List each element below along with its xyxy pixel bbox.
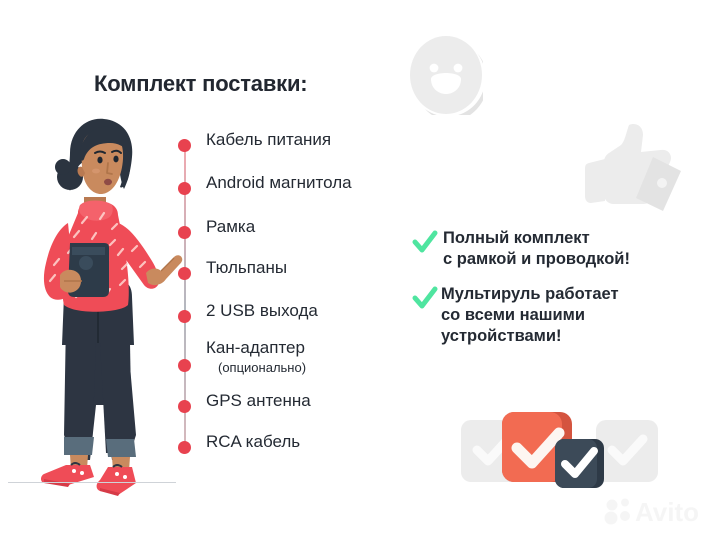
list-item-label: Тюльпаны: [206, 258, 287, 278]
list-item-label: Android магнитола: [206, 173, 352, 193]
woman-pointing-illustration: [8, 105, 188, 505]
timeline-dot: [178, 310, 191, 323]
ground-line: [8, 482, 176, 483]
benefit-text: Полный комплект с рамкой и проводкой!: [443, 228, 630, 270]
list-item-label: GPS антенна: [206, 391, 311, 411]
smiley-face-icon: [409, 35, 483, 115]
benefit-item: Полный комплект с рамкой и проводкой!: [412, 228, 692, 270]
benefit-item: Мультируль работает со всеми нашими устр…: [412, 284, 692, 347]
check-square-gray-right: [596, 420, 658, 482]
svg-text:Avito: Avito: [635, 497, 699, 527]
benefit-text: Мультируль работает со всеми нашими устр…: [441, 284, 619, 347]
green-check-icon: [412, 285, 438, 311]
list-item-label: RCA кабель: [206, 432, 300, 452]
list-item-label: Рамка: [206, 217, 255, 237]
avito-watermark: Avito: [602, 494, 706, 528]
page-title: Комплект поставки:: [94, 71, 307, 97]
timeline-dot: [178, 226, 191, 239]
promo-canvas: Avito: [0, 0, 720, 540]
timeline-dot: [178, 359, 191, 372]
thumbs-up-icon: [583, 115, 688, 220]
green-check-icon: [412, 229, 438, 255]
timeline-dot: [178, 441, 191, 454]
list-item-label: Кабель питания: [206, 130, 331, 150]
list-item-sublabel: (опционально): [218, 360, 306, 375]
benefits-block: Полный комплект с рамкой и проводкой! Му…: [412, 228, 692, 361]
supply-kit-timeline: Кабель питания Android магнитола Рамка Т…: [174, 130, 424, 460]
list-item-label: 2 USB выхода: [206, 301, 318, 321]
timeline-dot: [178, 400, 191, 413]
check-squares-group: [459, 392, 659, 497]
list-item-label: Кан-адаптер: [206, 338, 305, 358]
timeline-dot: [178, 139, 191, 152]
timeline-dot: [178, 267, 191, 280]
check-square-dark: [555, 439, 604, 488]
timeline-dot: [178, 182, 191, 195]
